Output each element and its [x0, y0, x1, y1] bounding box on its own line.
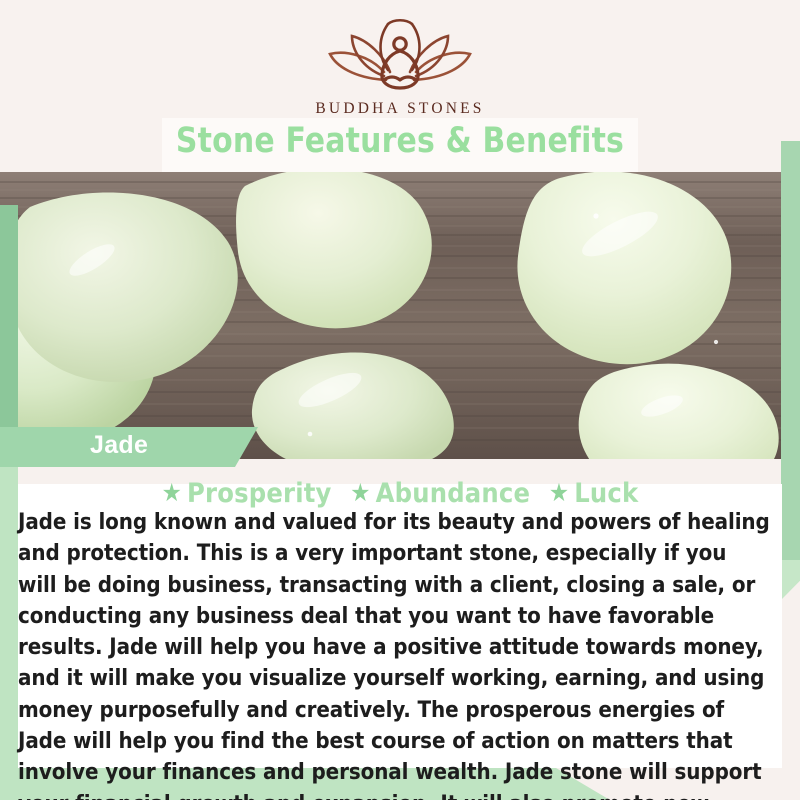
benefit-label: Luck	[574, 478, 638, 509]
star-icon: ★	[162, 478, 182, 507]
benefit-item: ★Luck	[549, 478, 639, 509]
brand-logo: BUDDHA STONES	[0, 18, 800, 118]
infographic-page: BUDDHA STONES Stone Features & Benefits	[0, 0, 800, 800]
brand-wordmark: BUDDHA STONES	[0, 100, 800, 118]
lotus-meditation-icon	[326, 18, 474, 96]
header-band: BUDDHA STONES Stone Features & Benefits	[0, 0, 800, 172]
star-icon: ★	[350, 478, 370, 507]
stone-name-label: Jade	[90, 431, 148, 460]
description-paragraph: Jade is long known and valued for its be…	[18, 507, 771, 800]
page-title: Stone Features & Benefits	[153, 121, 647, 161]
benefits-row: ★Prosperity ★Abundance ★Luck	[0, 478, 800, 509]
frame-accent-right-tail	[781, 560, 800, 600]
star-icon: ★	[549, 478, 569, 507]
jade-stones-illustration	[0, 172, 783, 459]
benefit-item: ★Prosperity	[162, 478, 332, 509]
benefit-label: Prosperity	[187, 478, 332, 509]
benefit-label: Abundance	[376, 478, 531, 509]
frame-accent-right	[781, 141, 800, 580]
benefit-item: ★Abundance	[350, 478, 530, 509]
stone-photo	[0, 172, 783, 459]
